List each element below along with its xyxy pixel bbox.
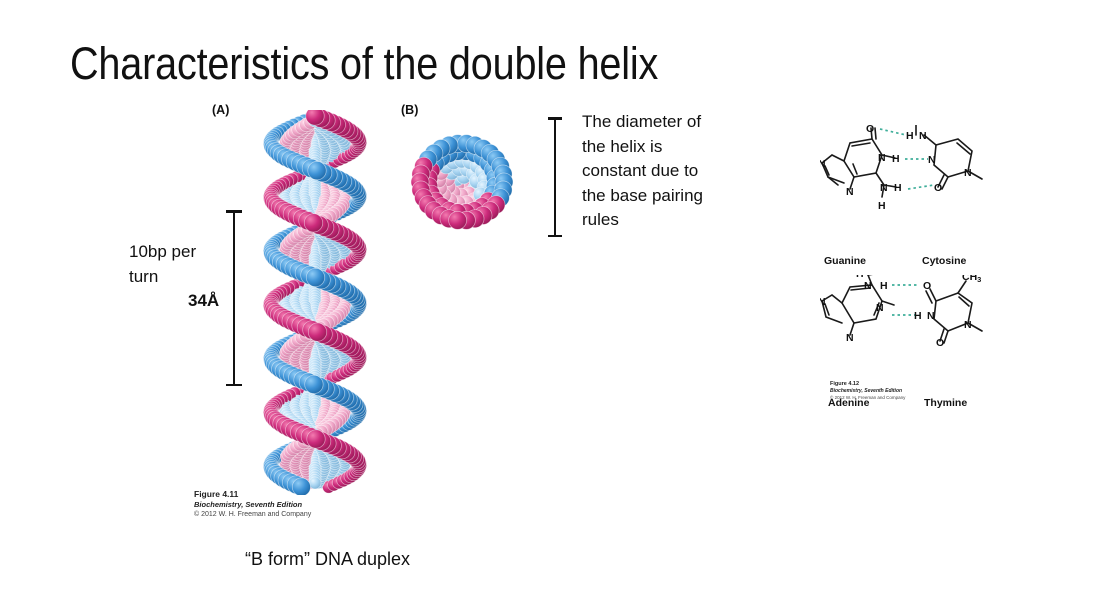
measure-stem: [554, 117, 557, 237]
atom-label-o: O: [934, 182, 942, 194]
atom-label-n: N: [964, 167, 972, 179]
measure-cap-bottom: [548, 235, 562, 238]
page-title: Characteristics of the double helix: [70, 38, 658, 90]
atom-label-n: N: [876, 302, 884, 314]
atom-label-methyl: CH3: [962, 275, 981, 284]
atom-label-n: N: [820, 296, 826, 308]
measure-stem: [233, 210, 236, 386]
atom-label-h: H: [880, 280, 888, 292]
dna-helix-side-svg: [245, 110, 385, 495]
atom-label-n: N: [878, 152, 886, 164]
base-pair-diagram-gc: N O N H N N H H: [820, 125, 1108, 275]
atom-label-h: H: [912, 125, 920, 128]
dna-helix-axial-view-image: [390, 120, 540, 245]
rise-per-turn-label: 34Å: [188, 291, 219, 311]
atom-label-n: N: [928, 154, 936, 166]
panel-label-b: (B): [401, 103, 418, 117]
atom-label-o: O: [936, 337, 944, 349]
atom-label-n: N: [927, 310, 935, 322]
dna-helix-axial-svg: [390, 120, 540, 245]
slide-canvas: Characteristics of the double helix (A) …: [0, 0, 1108, 616]
atom-label-h: H: [906, 130, 914, 142]
atom-label-n: N: [820, 158, 826, 170]
base-name-guanine: Guanine: [824, 255, 866, 267]
atom-label-h: H: [914, 310, 922, 322]
figure-credit-copyright: © 2012 W. H. Freeman and Company: [194, 510, 311, 520]
base-pair-diagram-at: N H N H N N: [820, 275, 1108, 420]
dna-helix-side-view-image: [245, 110, 385, 495]
atom-label-o: O: [923, 280, 931, 292]
atom-label-n: N: [864, 280, 872, 292]
gc-structure-svg: N O N H N N H H: [820, 125, 1108, 275]
measure-cap-bottom: [226, 384, 242, 387]
panel-label-a: (A): [212, 103, 229, 117]
diameter-explanation-text: The diameter of the helix is constant du…: [582, 110, 722, 233]
base-name-adenine: Adenine: [828, 397, 869, 409]
atom-label-n: N: [964, 319, 972, 331]
bp-per-turn-label: 10bp per turn: [129, 239, 224, 289]
duplex-caption: “B form” DNA duplex: [245, 549, 410, 570]
helix-diameter-measure-bar: [548, 117, 562, 237]
atom-label-n: N: [919, 130, 927, 142]
base-name-thymine: Thymine: [924, 397, 967, 409]
atom-label-h: H: [894, 182, 902, 194]
atom-label-n: N: [846, 186, 854, 198]
atom-label-h: H: [856, 275, 864, 280]
atom-label-n: N: [846, 332, 854, 344]
base-name-cytosine: Cytosine: [922, 255, 966, 267]
atom-label-h: H: [878, 200, 886, 212]
atom-label-o: O: [866, 125, 874, 135]
figure-credit-book: Biochemistry, Seventh Edition: [194, 500, 311, 510]
atom-label-h: H: [892, 153, 900, 165]
atom-label-n: N: [880, 182, 888, 194]
helix-length-measure-bar: [226, 210, 242, 386]
